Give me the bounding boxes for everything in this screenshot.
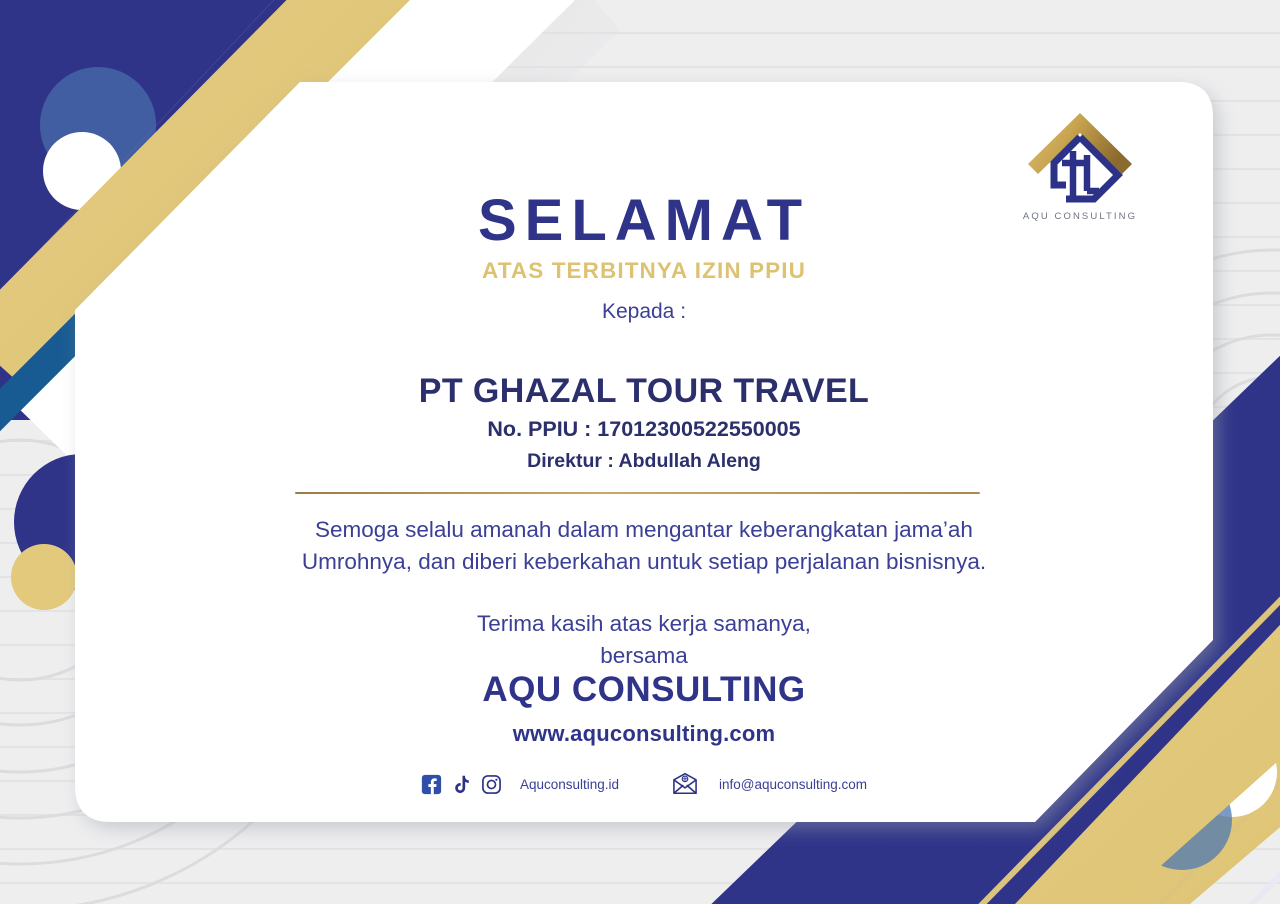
recipient-company: PT GHAZAL TOUR TRAVEL — [75, 372, 1213, 411]
recipient-ppiu-number: No. PPIU : 17012300522550005 — [75, 417, 1213, 442]
certificate-canvas: AQU CONSULTING SELAMAT ATAS TERBITNYA IZ… — [0, 0, 1280, 904]
brand-block: AQU CONSULTING www.aquconsulting.com — [75, 670, 1213, 747]
body-block: Semoga selalu amanah dalam mengantar keb… — [75, 514, 1213, 672]
social-handle-label: Aquconsulting.id — [520, 777, 619, 792]
gold-divider — [295, 492, 980, 494]
card-content: AQU CONSULTING SELAMAT ATAS TERBITNYA IZ… — [75, 82, 1213, 822]
thanks-line-2: bersama — [75, 640, 1213, 672]
page-subtitle: ATAS TERBITNYA IZIN PPIU — [75, 258, 1213, 284]
social-row: Aquconsulting.id info@aquconsulting.com — [75, 772, 1213, 796]
body-line-1: Semoga selalu amanah dalam mengantar keb… — [75, 514, 1213, 546]
body-line-2: Umrohnya, dan diberi keberkahan untuk se… — [75, 546, 1213, 578]
tiktok-icon[interactable] — [451, 774, 472, 795]
social-handles-group: Aquconsulting.id — [421, 774, 619, 795]
page-title: SELAMAT — [75, 192, 1213, 250]
email-label: info@aquconsulting.com — [719, 777, 867, 792]
email-group: info@aquconsulting.com — [671, 772, 867, 796]
recipient-director: Direktur : Abdullah Aleng — [75, 450, 1213, 473]
instagram-icon[interactable] — [481, 774, 502, 795]
headline-block: SELAMAT ATAS TERBITNYA IZIN PPIU Kepada … — [75, 192, 1213, 324]
kepada-label: Kepada : — [75, 300, 1213, 324]
brand-website[interactable]: www.aquconsulting.com — [75, 721, 1213, 747]
recipient-block: PT GHAZAL TOUR TRAVEL No. PPIU : 1701230… — [75, 372, 1213, 473]
brand-name: AQU CONSULTING — [75, 670, 1213, 710]
facebook-icon[interactable] — [421, 774, 442, 795]
thanks-line-1: Terima kasih atas kerja samanya, — [75, 608, 1213, 640]
envelope-icon[interactable] — [671, 772, 699, 796]
